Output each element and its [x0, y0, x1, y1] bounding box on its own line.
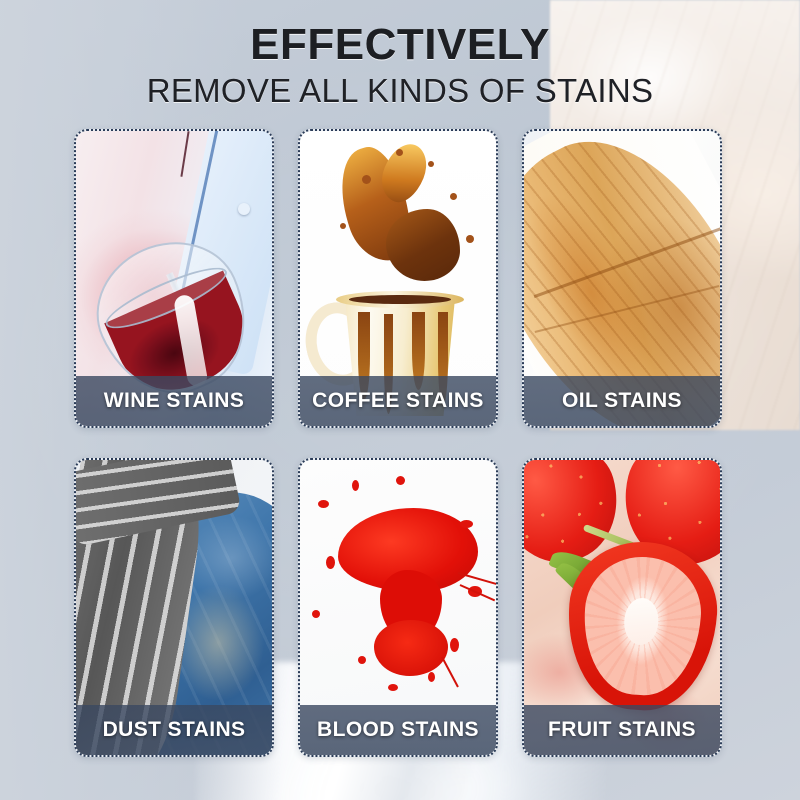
blood-speck — [326, 556, 335, 569]
stain-card-coffee[interactable]: COFFEE STAINS — [298, 129, 498, 428]
card-label-band: BLOOD STAINS — [300, 705, 496, 755]
coffee-droplet — [466, 235, 474, 243]
headline-secondary: REMOVE ALL KINDS OF STAINS — [0, 74, 800, 108]
stain-card-fruit[interactable]: FRUIT STAINS — [522, 458, 722, 757]
stain-card-wine[interactable]: WINE STAINS — [74, 129, 274, 428]
blood-speck — [358, 656, 366, 664]
card-label-band: COFFEE STAINS — [300, 376, 496, 426]
blood-speck — [388, 684, 398, 691]
coffee-droplet — [340, 223, 346, 229]
blood-streak — [441, 657, 459, 688]
shirt-seam — [180, 131, 189, 177]
stain-card-oil[interactable]: OIL STAINS — [522, 129, 722, 428]
headline-primary: EFFECTIVELY — [0, 22, 800, 68]
blood-streak — [458, 572, 498, 586]
blood-speck — [460, 520, 473, 528]
blood-speck — [450, 638, 459, 652]
blood-speck — [352, 480, 359, 491]
blood-speck — [318, 500, 329, 508]
coffee-droplet — [362, 175, 371, 184]
blood-speck — [312, 610, 320, 618]
stain-label-oil: OIL STAINS — [562, 389, 682, 413]
stain-label-fruit: FRUIT STAINS — [548, 718, 696, 742]
stain-card-blood[interactable]: BLOOD STAINS — [298, 458, 498, 757]
coffee-droplet — [450, 193, 457, 200]
blood-speck — [428, 672, 435, 682]
stain-label-blood: BLOOD STAINS — [317, 718, 479, 742]
mug-rim — [336, 291, 464, 308]
strawberry-flesh — [580, 553, 705, 698]
blood-blot-lower — [374, 620, 448, 676]
coffee-droplet — [396, 149, 403, 156]
stain-label-wine: WINE STAINS — [104, 389, 245, 413]
card-label-band: FRUIT STAINS — [524, 705, 720, 755]
card-label-band: WINE STAINS — [76, 376, 272, 426]
coffee-splash-main — [386, 209, 460, 281]
stain-card-grid: WINE STAINS — [74, 129, 724, 757]
stain-label-dust: DUST STAINS — [103, 718, 246, 742]
blood-speck — [396, 476, 405, 485]
stain-card-dust[interactable]: DUST STAINS — [74, 458, 274, 757]
card-label-band: OIL STAINS — [524, 376, 720, 426]
card-label-band: DUST STAINS — [76, 705, 272, 755]
shirt-button — [238, 203, 250, 215]
page-title: EFFECTIVELY REMOVE ALL KINDS OF STAINS — [0, 22, 800, 108]
stain-label-coffee: COFFEE STAINS — [312, 389, 484, 413]
coffee-droplet — [428, 161, 434, 167]
infographic-poster: EFFECTIVELY REMOVE ALL KINDS OF STAINS — [0, 0, 800, 800]
